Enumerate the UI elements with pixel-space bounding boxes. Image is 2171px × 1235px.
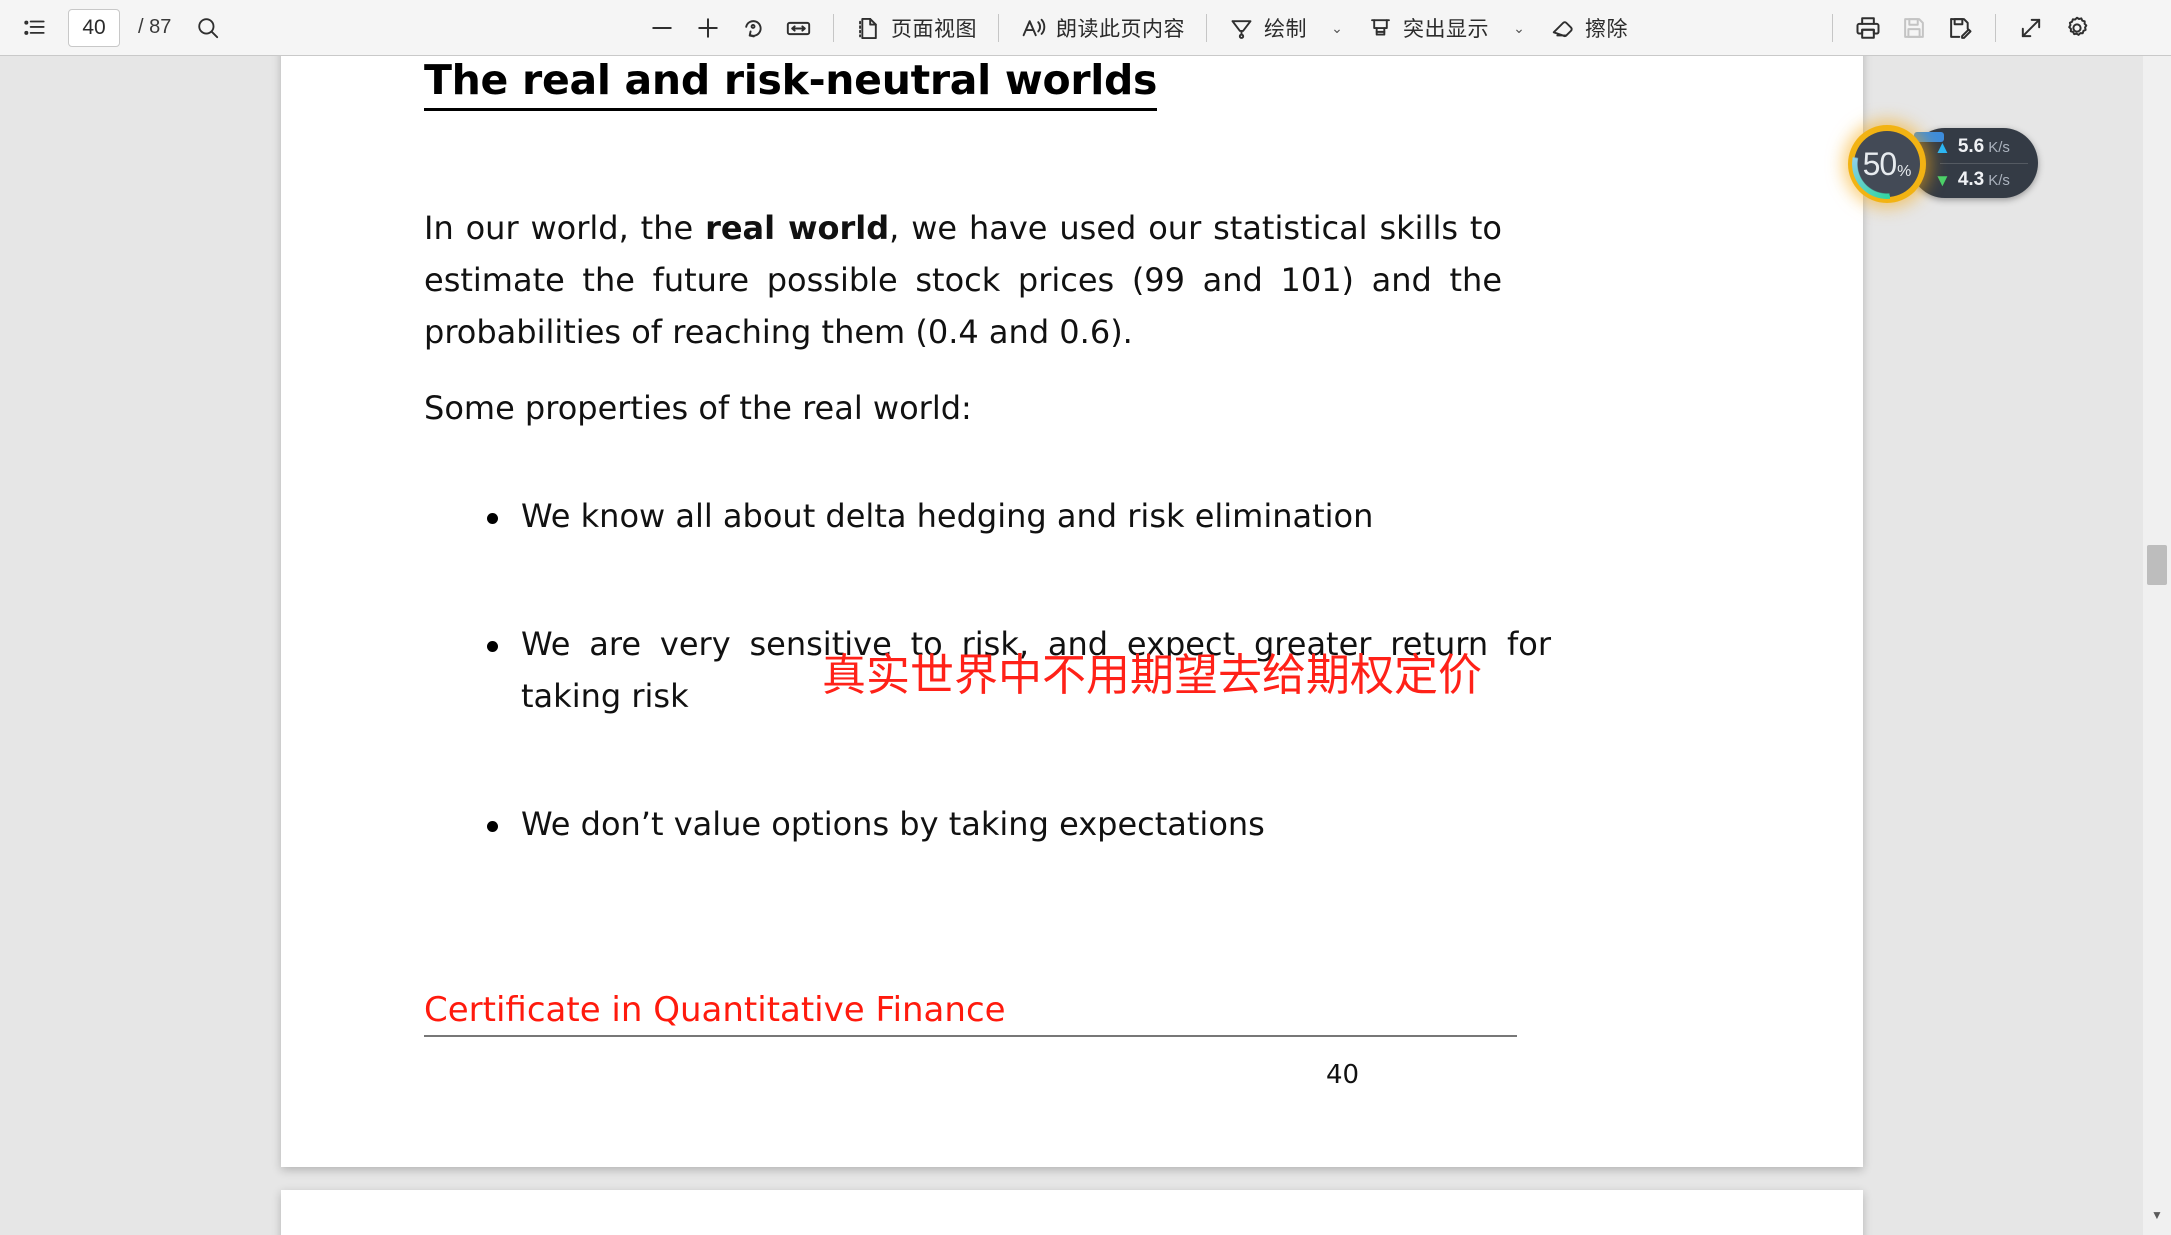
fit-width-icon (785, 15, 812, 42)
minus-icon (648, 14, 676, 42)
eraser-icon (1549, 15, 1576, 42)
toolbar-divider (1832, 14, 1833, 42)
rotate-button[interactable] (732, 8, 775, 48)
toolbar-left-group: 40 / 87 (0, 8, 229, 48)
zoom-out-button[interactable] (640, 8, 684, 48)
settings-button[interactable] (2055, 8, 2099, 48)
toolbar-divider (833, 14, 834, 42)
slide-paragraph-2: Some properties of the real world: (424, 382, 1324, 434)
highlight-label: 突出显示 (1403, 13, 1489, 43)
upload-speed-value: 5.6 (1958, 136, 1984, 158)
toolbar-divider (998, 14, 999, 42)
chevron-down-icon: ⌄ (1329, 20, 1345, 37)
download-arrow-icon: ▼ (1934, 172, 1951, 189)
list-item: We know all about delta hedging and risk… (481, 490, 1551, 542)
slide-page-number: 40 (1326, 1060, 1359, 1090)
fit-width-button[interactable] (777, 8, 820, 48)
draw-label: 绘制 (1264, 13, 1307, 43)
highlight-options-button[interactable]: ⌄ (1499, 8, 1539, 48)
cpu-usage-dial[interactable]: 50 % (1848, 125, 1926, 203)
page-number-input[interactable]: 40 (68, 9, 120, 47)
read-aloud-icon (1020, 15, 1047, 42)
toolbar-divider (1995, 14, 1996, 42)
chevron-down-icon: ⌄ (1511, 20, 1527, 37)
zoom-in-button[interactable] (686, 8, 730, 48)
page-view-icon (855, 15, 882, 42)
download-speed-row: ▼ 4.3 K/s (1934, 163, 2038, 197)
read-aloud-label: 朗读此页内容 (1056, 13, 1185, 43)
cpu-percent-sign: % (1897, 163, 1911, 181)
erase-label: 擦除 (1585, 13, 1628, 43)
system-monitor-widget[interactable]: ▲ 5.6 K/s ▼ 4.3 K/s 50 % (1848, 125, 2038, 201)
pdf-page-next (281, 1190, 1863, 1235)
pen-icon (1228, 15, 1255, 42)
read-aloud-button[interactable]: 朗读此页内容 (1012, 8, 1193, 48)
pdf-page-current: The real and risk-neutral worlds In our … (281, 56, 1863, 1167)
draw-options-button[interactable]: ⌄ (1317, 8, 1357, 48)
download-speed-value: 4.3 (1958, 169, 1984, 191)
highlighter-icon (1367, 15, 1394, 42)
scrollbar-down-arrow[interactable]: ▼ (2143, 1203, 2171, 1227)
expand-icon (2017, 14, 2045, 42)
scrollbar-thumb[interactable] (2147, 545, 2167, 585)
slide-title: The real and risk-neutral worlds (424, 56, 1157, 111)
paragraph-1-bold: real world (705, 209, 889, 247)
toolbar-right-group (1821, 0, 2099, 56)
page-view-label: 页面视图 (891, 13, 977, 43)
print-button[interactable] (1846, 8, 1890, 48)
upload-speed-unit: K/s (1988, 139, 2010, 156)
slide-content: The real and risk-neutral worlds In our … (281, 56, 1863, 1167)
list-item: We don’t value options by taking expecta… (481, 798, 1551, 850)
print-icon (1854, 14, 1882, 42)
page-total-label: / 87 (138, 16, 171, 39)
expand-button[interactable] (2009, 8, 2053, 48)
footer-brand: Certificate in Quantitative Finance (424, 990, 1517, 1037)
pdf-viewer[interactable]: The real and risk-neutral worlds In our … (0, 56, 2143, 1235)
outline-toggle-button[interactable] (14, 8, 56, 48)
chinese-annotation: 真实世界中不用期望去给期权定价 (822, 639, 1482, 703)
dial-text: 50 % (1848, 125, 1926, 203)
draw-button[interactable]: 绘制 (1220, 8, 1315, 48)
search-icon (195, 15, 221, 41)
page-number-value: 40 (82, 16, 105, 40)
save-as-button[interactable] (1938, 8, 1982, 48)
rotate-icon (740, 15, 767, 42)
paragraph-1-pre: In our world, the (424, 209, 705, 247)
save-as-icon (1946, 14, 1974, 42)
page-view-button[interactable]: 页面视图 (847, 8, 985, 48)
pdf-toolbar: 40 / 87 (0, 0, 2171, 56)
save-button[interactable] (1892, 8, 1936, 48)
cpu-percent-value: 50 (1863, 146, 1897, 183)
save-icon (1900, 14, 1928, 42)
highlight-button[interactable]: 突出显示 (1359, 8, 1497, 48)
plus-icon (694, 14, 722, 42)
upload-speed-row: ▲ 5.6 K/s (1934, 130, 2038, 164)
gear-icon (2063, 14, 2091, 42)
vertical-scrollbar[interactable]: ▼ (2143, 56, 2171, 1235)
search-button[interactable] (187, 8, 229, 48)
toolbar-divider (1206, 14, 1207, 42)
toolbar-center-group: 页面视图 朗读此页内容 绘制 ⌄ (640, 0, 1636, 56)
download-speed-unit: K/s (1988, 172, 2010, 189)
list-outline-icon (22, 15, 48, 41)
erase-button[interactable]: 擦除 (1541, 8, 1636, 48)
slide-paragraph-1: In our world, the real world, we have us… (424, 202, 1502, 358)
